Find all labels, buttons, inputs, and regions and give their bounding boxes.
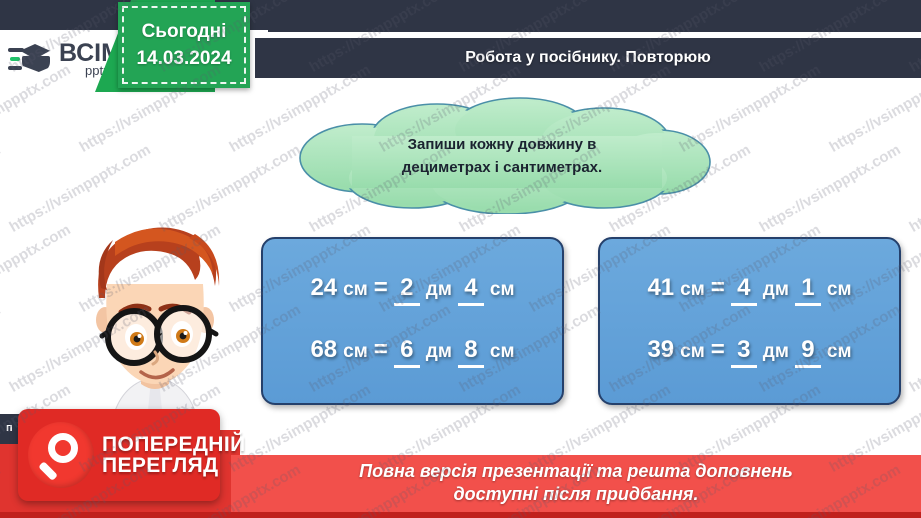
preview-badge[interactable]: ПОПЕРЕДНІЙ ПЕРЕГЛЯД	[18, 409, 220, 501]
date-badge-date: 14.03.2024	[136, 48, 231, 70]
slide-title-bar: Робота у посібнику. Повторюю	[255, 38, 921, 78]
footer-line-1: Повна версія презентації та решта доповн…	[359, 461, 793, 483]
equation-equals: =	[711, 274, 725, 302]
equation-unit-cm2: см	[490, 279, 515, 301]
equation-value: 68	[310, 336, 337, 364]
equation-value: 41	[647, 274, 674, 302]
answer-blank-dm[interactable]: 4	[731, 274, 757, 306]
magnifier-icon	[28, 422, 94, 488]
equation-row: 39 см = 3 дм 9 см	[647, 336, 851, 368]
footer-bottom-strip	[0, 512, 921, 518]
graduation-cap-icon	[8, 42, 54, 76]
date-badge-label: Сьогодні	[142, 21, 227, 43]
equation-unit-cm: см	[343, 279, 368, 301]
page-title: Робота у посібнику. Повторюю	[465, 49, 711, 67]
equation-equals: =	[374, 274, 388, 302]
instruction-cloud: Запиши кожну довжину в дециметрах і сант…	[292, 96, 712, 214]
answer-blank-cm[interactable]: 1	[795, 274, 821, 306]
instruction-line-1: Запиши кожну довжину в	[408, 136, 597, 155]
equation-value: 39	[647, 336, 674, 364]
equation-unit-cm: см	[680, 279, 705, 301]
equation-row: 24 см = 2 дм 4 см	[310, 274, 514, 306]
equation-equals: =	[711, 336, 725, 364]
instruction-line-2: дециметрах і сантиметрах.	[402, 159, 602, 178]
footer-banner: Повна версія презентації та решта доповн…	[231, 455, 921, 512]
equation-row: 41 см = 4 дм 1 см	[647, 274, 851, 306]
equation-equals: =	[374, 336, 388, 364]
equation-unit-cm: см	[680, 341, 705, 363]
watermark-text: https://vsimppptx.com	[906, 301, 921, 396]
watermark-text: https://vsimppptx.com	[0, 141, 4, 236]
equation-unit-cm2: см	[827, 341, 852, 363]
equation-unit-dm: дм	[426, 279, 452, 301]
navy-sliver-text: п	[6, 422, 13, 434]
equation-unit-dm: дм	[763, 279, 789, 301]
equation-unit-dm: дм	[426, 341, 452, 363]
answer-blank-dm[interactable]: 3	[731, 336, 757, 368]
equation-unit-cm: см	[343, 341, 368, 363]
equation-unit-cm2: см	[490, 341, 515, 363]
date-badge: Сьогодні 14.03.2024	[118, 2, 250, 88]
footer-line-2: доступні після придбання.	[454, 484, 699, 506]
answer-blank-cm[interactable]: 8	[458, 336, 484, 368]
equation-value: 24	[310, 274, 337, 302]
boy-character-illustration	[55, 212, 255, 437]
answer-blank-dm[interactable]: 2	[394, 274, 420, 306]
watermark-text: https://vsimppptx.com	[906, 141, 921, 236]
answer-blank-cm[interactable]: 4	[458, 274, 484, 306]
equation-unit-cm2: см	[827, 279, 852, 301]
answer-blank-cm[interactable]: 9	[795, 336, 821, 368]
preview-badge-line-1: ПОПЕРЕДНІЙ	[102, 434, 246, 455]
answer-blank-dm[interactable]: 6	[394, 336, 420, 368]
equation-unit-dm: дм	[763, 341, 789, 363]
watermark-text: https://vsimppptx.com	[756, 141, 903, 236]
exercise-box-right: 41 см = 4 дм 1 см 39 см = 3 дм 9 см	[598, 237, 901, 405]
watermark-text: https://vsimppptx.com	[0, 301, 4, 396]
slide-canvas: ВСІМ pptx Сьогодні 14.03.2024 Робота у п…	[0, 0, 921, 518]
equation-row: 68 см = 6 дм 8 см	[310, 336, 514, 368]
exercise-box-left: 24 см = 2 дм 4 см 68 см = 6 дм 8 см	[261, 237, 564, 405]
preview-badge-line-2: ПЕРЕГЛЯД	[102, 455, 246, 476]
